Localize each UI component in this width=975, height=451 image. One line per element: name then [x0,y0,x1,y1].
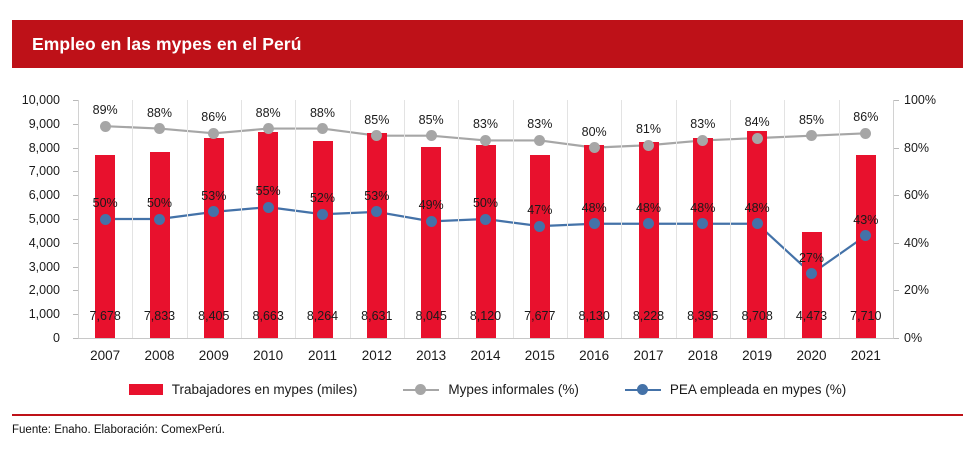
y-axis-right-tick-label: 20% [904,284,929,296]
chart-canvas: 01,0002,0003,0004,0005,0006,0007,0008,00… [0,72,975,372]
chart-legend: Trabajadores en mypes (miles)Mypes infor… [0,376,975,402]
x-axis-tick-label: 2015 [513,348,567,363]
data-point-label: 85% [350,114,404,127]
gridline-vertical [676,100,677,338]
legend-item[interactable]: Mypes informales (%) [403,382,579,397]
x-axis-tick-label: 2007 [78,348,132,363]
data-point-marker [263,123,274,134]
gridline-vertical [513,100,514,338]
x-axis-tick-label: 2010 [241,348,295,363]
bar [367,133,387,338]
gridline-vertical [132,100,133,338]
y-axis-right-tickmark [894,290,899,291]
footer-divider [12,414,963,416]
x-axis-labels: 2007200820092010201120122013201420152016… [78,344,893,372]
y-axis-right-tick-label: 40% [904,237,929,249]
data-point-label: 84% [730,116,784,129]
y-axis-left-labels: 01,0002,0003,0004,0005,0006,0007,0008,00… [8,72,68,372]
y-axis-left-tick-label: 1,000 [29,308,60,320]
bar-value-label: 8,631 [350,310,404,323]
gridline-vertical [295,100,296,338]
bar [747,131,767,338]
y-axis-right-tickmark [894,195,899,196]
data-point-marker [752,133,763,144]
bar-value-label: 8,405 [187,310,241,323]
x-axis-tick-label: 2012 [350,348,404,363]
data-point-marker [480,135,491,146]
legend-marker-dot [415,384,426,395]
data-point-marker [752,218,763,229]
data-point-label: 83% [458,118,512,131]
y-axis-left-tick-label: 5,000 [29,213,60,225]
y-axis-right-tickmark [894,148,899,149]
chart-page: Empleo en las mypes en el Perú 01,0002,0… [0,0,975,451]
y-axis-right-tickmark [894,100,899,101]
gridline-vertical [784,100,785,338]
legend-item[interactable]: Trabajadores en mypes (miles) [129,382,358,397]
bar-value-label: 8,228 [621,310,675,323]
data-point-label: 49% [404,199,458,212]
x-axis-tick-label: 2009 [187,348,241,363]
data-point-marker [317,123,328,134]
y-axis-left-tick-label: 8,000 [29,142,60,154]
bar-value-label: 8,264 [295,310,349,323]
data-point-label: 83% [513,118,567,131]
bar-value-label: 8,395 [676,310,730,323]
y-axis-right-tick-label: 60% [904,189,929,201]
bar-value-label: 8,663 [241,310,295,323]
x-axis-tick-label: 2017 [621,348,675,363]
legend-swatch-line [403,384,439,395]
data-point-label: 53% [350,190,404,203]
data-point-marker [426,216,437,227]
bar-value-label: 7,710 [839,310,893,323]
x-axis-tick-label: 2014 [458,348,512,363]
data-point-marker [100,214,111,225]
y-axis-right-tick-label: 100% [904,94,936,106]
data-point-marker [154,214,165,225]
data-point-label: 48% [730,202,784,215]
data-point-label: 52% [295,192,349,205]
legend-marker-dot [637,384,648,395]
y-axis-right-tickmark [894,243,899,244]
x-axis-tick-label: 2021 [839,348,893,363]
data-point-marker [480,214,491,225]
data-point-marker [643,140,654,151]
gridline-vertical [350,100,351,338]
y-axis-left-tick-label: 4,000 [29,237,60,249]
legend-item[interactable]: PEA empleada en mypes (%) [625,382,846,397]
data-point-label: 43% [839,214,893,227]
bar-value-label: 7,677 [513,310,567,323]
y-axis-left-tick-label: 3,000 [29,261,60,273]
data-point-label: 86% [187,111,241,124]
data-point-marker [100,121,111,132]
bar-value-label: 7,678 [78,310,132,323]
x-axis-tick-label: 2008 [132,348,186,363]
y-axis-left-tick-label: 9,000 [29,118,60,130]
data-point-label: 53% [187,190,241,203]
axis-line-right [893,100,894,338]
axis-line-bottom [78,338,894,339]
x-axis-tick-label: 2011 [295,348,349,363]
bar-value-label: 8,130 [567,310,621,323]
data-point-label: 89% [78,104,132,117]
title-banner: Empleo en las mypes en el Perú [12,20,963,68]
data-point-label: 50% [78,197,132,210]
y-axis-left-tick-label: 6,000 [29,189,60,201]
data-point-label: 88% [295,107,349,120]
legend-label: Mypes informales (%) [448,382,579,397]
plot-area: 7,6787,8338,4058,6638,2648,6318,0458,120… [78,100,893,338]
x-axis-tick-label: 2016 [567,348,621,363]
y-axis-right-labels: 0%20%40%60%80%100% [899,72,959,372]
data-point-marker [426,130,437,141]
data-point-label: 48% [676,202,730,215]
legend-swatch-bar [129,384,163,395]
gridline-vertical [404,100,405,338]
bar-value-label: 7,833 [132,310,186,323]
data-point-label: 83% [676,118,730,131]
data-point-marker [589,218,600,229]
x-axis-tick-label: 2019 [730,348,784,363]
data-point-marker [534,221,545,232]
data-point-marker [589,142,600,153]
bar-value-label: 8,120 [458,310,512,323]
gridline-vertical [241,100,242,338]
data-point-label: 80% [567,126,621,139]
y-axis-right-tickmark [894,338,899,339]
data-point-label: 48% [567,202,621,215]
data-point-label: 48% [621,202,675,215]
x-axis-tick-label: 2018 [676,348,730,363]
bar-value-label: 4,473 [784,310,838,323]
y-axis-left-tick-label: 0 [53,332,60,344]
data-point-label: 85% [784,114,838,127]
page-title: Empleo en las mypes en el Perú [12,34,302,55]
data-point-label: 47% [513,204,567,217]
data-point-label: 88% [241,107,295,120]
data-point-label: 85% [404,114,458,127]
bar-value-label: 8,045 [404,310,458,323]
y-axis-left-tick-label: 10,000 [22,94,60,106]
data-point-marker [317,209,328,220]
y-axis-right-tick-label: 0% [904,332,922,344]
gridline-vertical [187,100,188,338]
gridline-vertical [730,100,731,338]
bar [258,132,278,338]
y-axis-right-tick-label: 80% [904,142,929,154]
data-point-label: 50% [458,197,512,210]
data-point-label: 50% [132,197,186,210]
legend-swatch-line [625,384,661,395]
gridline-vertical [458,100,459,338]
bar [204,138,224,338]
x-axis-tick-label: 2020 [784,348,838,363]
data-point-marker [154,123,165,134]
legend-label: Trabajadores en mypes (miles) [172,382,358,397]
source-note: Fuente: Enaho. Elaboración: ComexPerú. [12,424,225,436]
legend-label: PEA empleada en mypes (%) [670,382,846,397]
data-point-marker [263,202,274,213]
data-point-label: 81% [621,123,675,136]
data-point-label: 86% [839,111,893,124]
data-point-label: 88% [132,107,186,120]
bar-value-label: 8,708 [730,310,784,323]
y-axis-left-tick-label: 7,000 [29,165,60,177]
data-point-label: 27% [784,252,838,265]
data-point-label: 55% [241,185,295,198]
y-axis-left-tick-label: 2,000 [29,284,60,296]
x-axis-tick-label: 2013 [404,348,458,363]
